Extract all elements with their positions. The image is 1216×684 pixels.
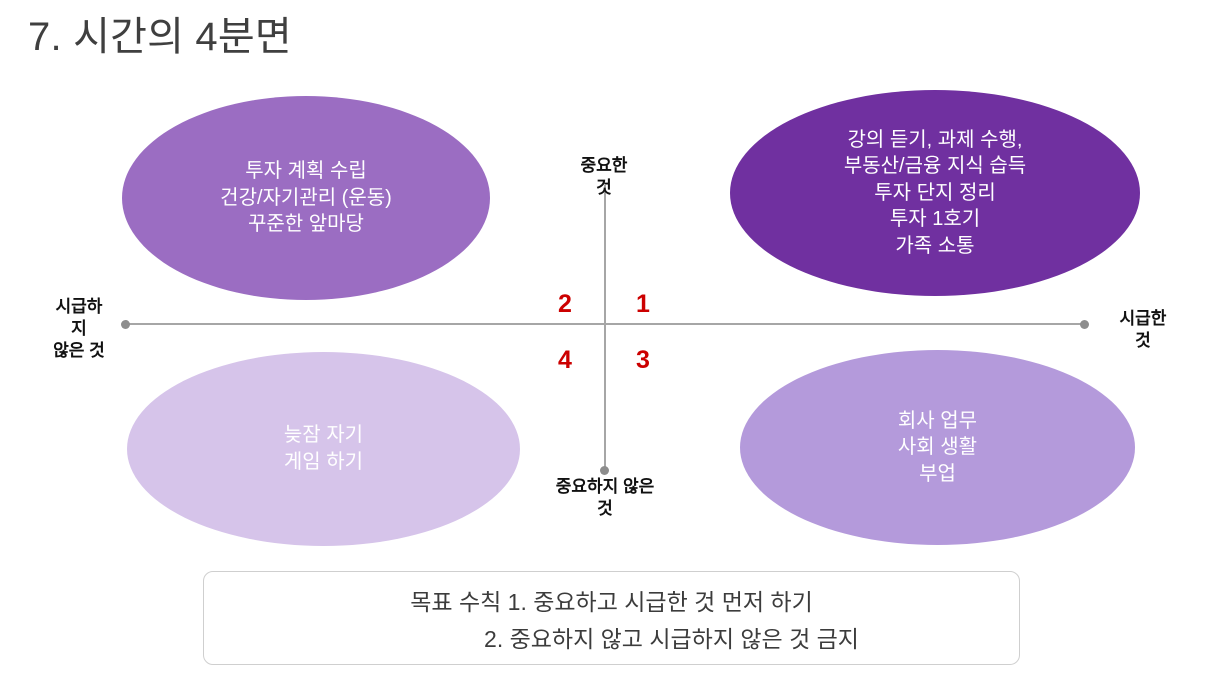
- goal-rule-line-2: 2. 중요하지 않고 시급하지 않은 것 금지: [226, 621, 997, 658]
- vertical-axis-line: [604, 185, 606, 470]
- quadrant-number-1: 1: [636, 292, 650, 317]
- quadrant-1-text: 강의 듣기, 과제 수행, 부동산/금융 지식 습득 투자 단지 정리 투자 1…: [826, 127, 1044, 260]
- quadrant-3-ellipse[interactable]: 회사 업무 사회 생활 부업: [740, 350, 1135, 545]
- quadrant-number-3: 3: [636, 348, 650, 373]
- axis-endpoint-dot-left: [121, 320, 130, 329]
- quadrant-4-text: 늦잠 자기 게임 하기: [266, 422, 381, 475]
- quadrant-2-text: 투자 계획 수립 건강/자기관리 (운동) 꾸준한 앞마당: [202, 158, 410, 238]
- quadrant-number-4: 4: [558, 348, 572, 373]
- axis-endpoint-dot-bottom: [600, 466, 609, 475]
- slide-canvas: 7. 시간의 4분면 투자 계획 수립 건강/자기관리 (운동) 꾸준한 앞마당…: [0, 0, 1216, 684]
- axis-label-not-urgent: 시급하 지 않은 것: [38, 296, 120, 362]
- goal-rule-line-1: 목표 수칙 1. 중요하고 시급한 것 먼저 하기: [226, 584, 997, 621]
- axis-label-not-important: 중요하지 않은 것: [520, 476, 690, 520]
- quadrant-2-ellipse[interactable]: 투자 계획 수립 건강/자기관리 (운동) 꾸준한 앞마당: [122, 96, 490, 300]
- quadrant-1-ellipse[interactable]: 강의 듣기, 과제 수행, 부동산/금융 지식 습득 투자 단지 정리 투자 1…: [730, 90, 1140, 296]
- axis-label-important: 중요한 것: [542, 155, 666, 199]
- quadrant-3-text: 회사 업무 사회 생활 부업: [880, 408, 995, 488]
- quadrant-4-ellipse[interactable]: 늦잠 자기 게임 하기: [127, 352, 520, 546]
- axis-label-urgent: 시급한 것: [1098, 308, 1188, 352]
- axis-endpoint-dot-right: [1080, 320, 1089, 329]
- goal-rules-box: 목표 수칙 1. 중요하고 시급한 것 먼저 하기 2. 중요하지 않고 시급하…: [203, 571, 1020, 665]
- quadrant-number-2: 2: [558, 292, 572, 317]
- page-title: 7. 시간의 4분면: [28, 14, 292, 60]
